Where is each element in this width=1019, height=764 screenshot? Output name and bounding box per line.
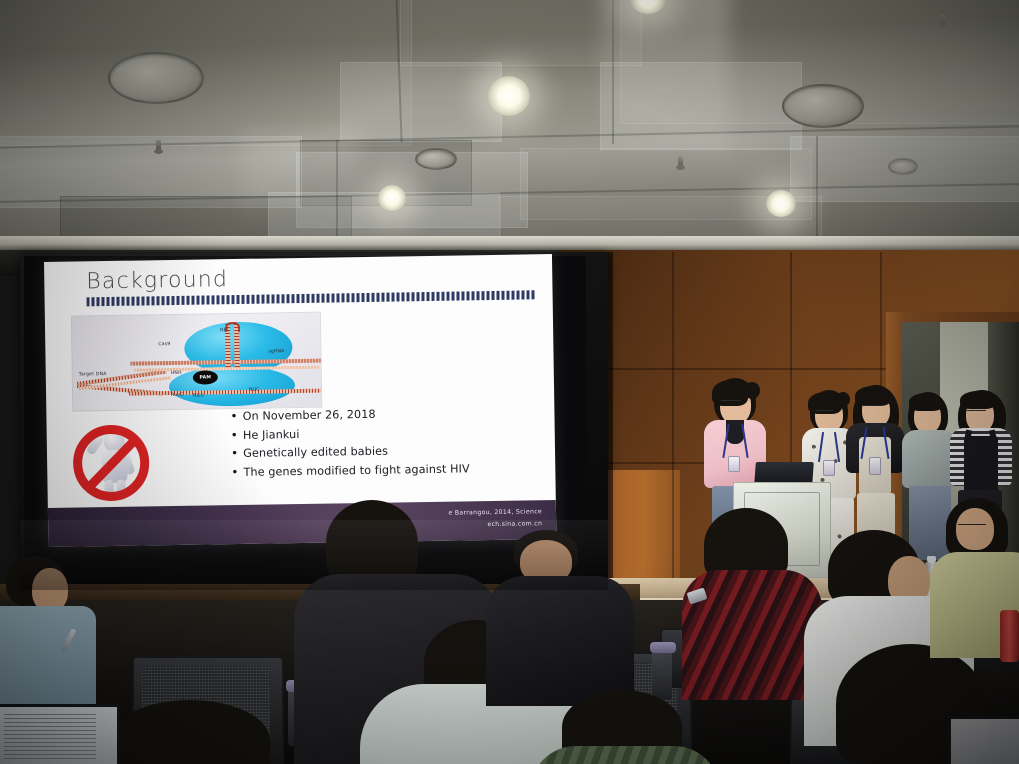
slide-title: Background <box>86 267 228 294</box>
ceiling-speaker <box>108 52 204 104</box>
sprinkler-head <box>156 140 161 154</box>
ceiling-downlight <box>488 76 530 116</box>
ceiling <box>0 0 1019 252</box>
list-item: Genetically edited babies <box>231 441 531 460</box>
laptop-screen-text <box>4 714 96 760</box>
ceiling-downlight <box>378 185 406 211</box>
ceiling-speaker <box>782 84 864 128</box>
crispr-cas9-diagram: PAM Cas9 REC sgRNA Target DNA HNH RuvC N… <box>71 312 322 412</box>
glasses <box>816 410 834 414</box>
diagram-label-hnh: HNH <box>171 371 182 376</box>
citation-source: e Barrangou, 2014, Science <box>448 508 542 516</box>
diagram-label-cas9: Cas9 <box>158 342 170 347</box>
sprinkler-head <box>940 14 945 28</box>
conference-room-photo: Background PAM Cas9 REC sgRNA Target DNA… <box>0 0 1019 764</box>
diagram-label-pam: PAM <box>199 375 211 380</box>
badge <box>869 457 881 475</box>
slide-bullet-list: On November 26, 2018 He Jiankui Genetica… <box>230 404 531 483</box>
diagram-label-ruvc: RuvC <box>171 393 184 398</box>
glasses <box>721 400 741 404</box>
sprinkler-head <box>678 156 683 170</box>
presentation-slide: Background PAM Cas9 REC sgRNA Target DNA… <box>44 254 556 547</box>
ceiling-downlight <box>766 190 796 217</box>
bottle-cap <box>927 556 936 562</box>
glasses <box>863 405 882 409</box>
glasses <box>967 410 986 414</box>
ceiling-vent <box>888 158 918 175</box>
diagram-label-target-dna: Target DNA <box>79 372 107 377</box>
diagram-label-ngg: NGG <box>193 393 204 398</box>
diagram-label-nuc: NUC <box>249 388 260 393</box>
badge <box>823 460 835 476</box>
glasses <box>958 524 986 528</box>
citation-url: ech.sina.com.cn <box>487 520 542 528</box>
diagram-label-rec: REC <box>220 328 230 333</box>
list-item: The genes modified to fight against HIV <box>231 460 531 479</box>
chair-armrest <box>652 648 672 700</box>
ceiling-vent <box>415 148 457 170</box>
audience-laptop[interactable] <box>948 716 1019 764</box>
chair-armrest-pad <box>650 642 676 653</box>
diagram-label-sgrna: sgRNA <box>268 349 284 354</box>
badge <box>728 456 740 472</box>
slide-citation-band: e Barrangou, 2014, Science ech.sina.com.… <box>48 500 557 547</box>
thermos-bottle <box>1000 610 1019 662</box>
no-baby-prohibition-icon <box>70 418 155 503</box>
list-item: He Jiankui <box>231 423 531 442</box>
